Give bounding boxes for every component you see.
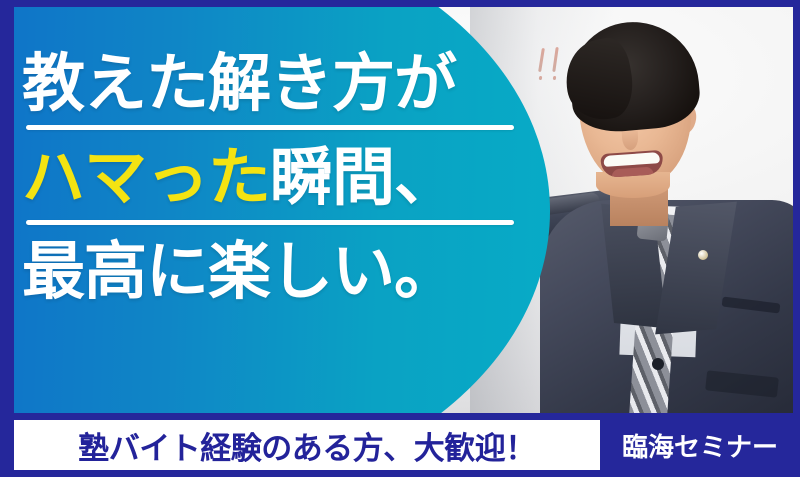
teeth — [603, 152, 660, 167]
navy-left-edge — [0, 0, 14, 420]
tagline-box: 塾バイト経験のある方、大歓迎！ — [14, 420, 600, 470]
headline-line-2: ハマった瞬間、 — [22, 146, 522, 210]
jacket-button — [652, 358, 664, 370]
headline-line-2-highlight: ハマった — [22, 141, 270, 214]
headline-block: 教えた解き方が ハマった瞬間、 最高に楽しい。 — [22, 52, 522, 304]
brand-name: 臨海セミナー — [600, 427, 800, 464]
tagline-text: 塾バイト経験のある方、大歓迎！ — [78, 423, 536, 468]
headline-rule-1 — [26, 125, 514, 130]
recruitment-banner: 教えた解き方が ハマった瞬間、 最高に楽しい。 塾バイト経験のある方、大歓迎！ … — [0, 0, 800, 477]
headline-line-3: 最高に楽しい。 — [22, 240, 522, 304]
bottom-bar: 塾バイト経験のある方、大歓迎！ 臨海セミナー — [0, 413, 800, 477]
headline-line-2-rest: 瞬間、 — [270, 141, 456, 214]
headline-rule-2 — [26, 220, 514, 225]
headline-line-1: 教えた解き方が — [22, 52, 522, 116]
lapel-pin — [698, 250, 708, 260]
